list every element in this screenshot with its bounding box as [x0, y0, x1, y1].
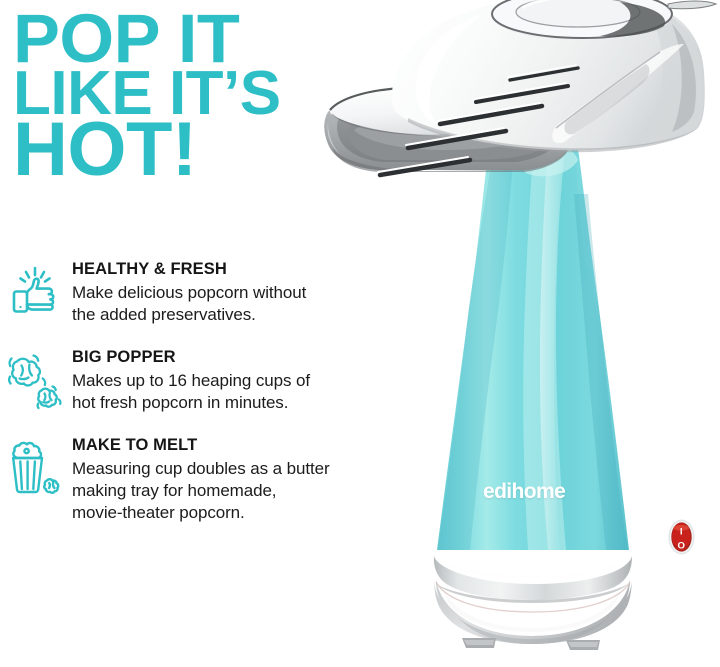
- feature-title: HEALTHY & FRESH: [72, 260, 420, 278]
- feature-body-line: Make delicious popcorn without: [72, 282, 420, 304]
- feature-body-line: making tray for homemade,: [72, 480, 420, 502]
- thumbs-up-icon: [0, 258, 72, 330]
- feature-text: HEALTHY & FRESH Make delicious popcorn w…: [72, 258, 420, 326]
- feature-body-line: Makes up to 16 heaping cups of: [72, 370, 420, 392]
- power-rocker-switch[interactable]: I O: [668, 519, 695, 555]
- feature-body: Make delicious popcorn without the added…: [72, 282, 420, 326]
- product-feature-graphic: POP IT LIKE IT’S HOT!: [0, 0, 720, 667]
- feature-title: MAKE TO MELT: [72, 436, 420, 454]
- feature-list: HEALTHY & FRESH Make delicious popcorn w…: [0, 258, 420, 540]
- feature-body-line: Measuring cup doubles as a butter: [72, 458, 420, 480]
- power-on-symbol: I: [680, 526, 683, 537]
- feature-body-line: the added preservatives.: [72, 304, 420, 326]
- feature-item-big-popper: BIG POPPER Makes up to 16 heaping cups o…: [0, 346, 420, 418]
- feature-item-healthy-fresh: HEALTHY & FRESH Make delicious popcorn w…: [0, 258, 420, 330]
- feature-title: BIG POPPER: [72, 348, 420, 366]
- silver-band: [434, 554, 632, 603]
- feature-body: Makes up to 16 heaping cups of hot fresh…: [72, 370, 420, 414]
- brand-label: edihome: [483, 480, 565, 504]
- popcorn-bucket-icon: [0, 434, 72, 506]
- headline: POP IT LIKE IT’S HOT!: [13, 8, 353, 184]
- feature-text: MAKE TO MELT Measuring cup doubles as a …: [72, 434, 420, 524]
- feature-item-make-to-melt: MAKE TO MELT Measuring cup doubles as a …: [0, 434, 420, 524]
- feature-text: BIG POPPER Makes up to 16 heaping cups o…: [72, 346, 420, 414]
- popcorn-kernels-icon: [0, 346, 72, 418]
- feature-body-line: hot fresh popcorn in minutes.: [72, 392, 420, 414]
- power-off-symbol: O: [677, 540, 685, 551]
- feature-body-line: movie-theater popcorn.: [72, 502, 420, 524]
- headline-line-3: HOT!: [13, 116, 353, 184]
- feature-body: Measuring cup doubles as a butter making…: [72, 458, 420, 524]
